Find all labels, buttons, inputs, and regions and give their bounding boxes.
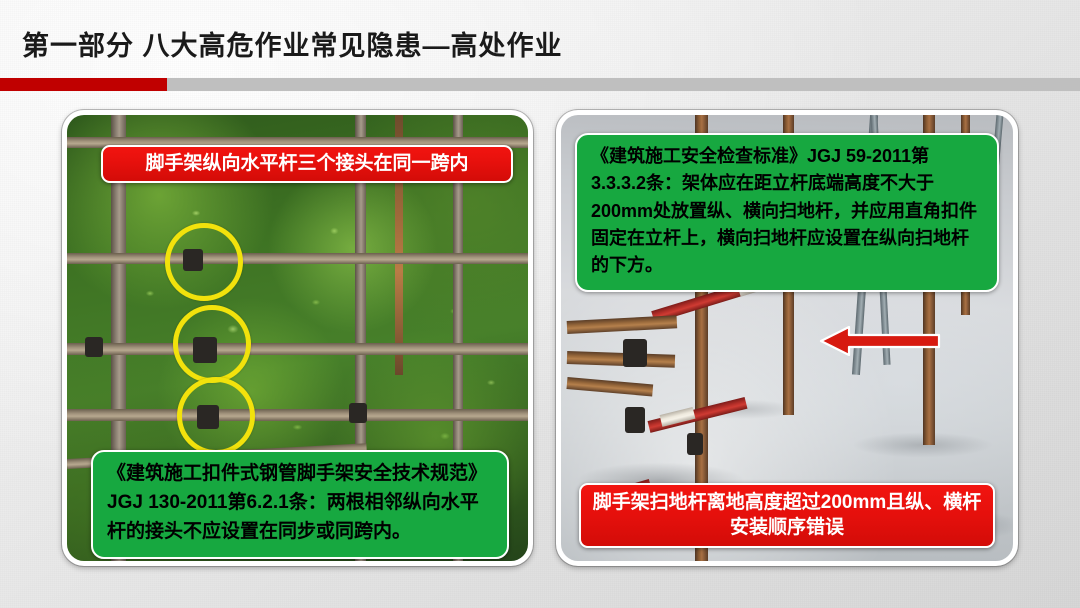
right-photo-card[interactable]: 《建筑施工安全检查标准》JGJ 59-2011第3.3.3.2条：架体应在距立杆… [556,110,1018,566]
scaffold-joint [349,403,367,423]
marker-circle-3 [177,377,255,455]
left-card-inner: 脚手架纵向水平杆三个接头在同一跨内 《建筑施工扣件式钢管脚手架安全技术规范》JG… [67,115,528,561]
left-standard-caption: 《建筑施工扣件式钢管脚手架安全技术规范》JGJ 130-2011第6.2.1条：… [91,450,509,559]
right-standard-caption: 《建筑施工安全检查标准》JGJ 59-2011第3.3.3.2条：架体应在距立杆… [575,133,999,292]
right-hazard-banner: 脚手架扫地杆离地高度超过200mm且纵、横杆安装顺序错误 [579,483,995,548]
scaffold-ledger-pole [67,253,528,264]
title-divider-red-segment [0,78,167,91]
scaffold-joint [85,337,103,357]
right-angle-coupler [623,339,647,367]
page-title: 第一部分 八大高危作业常见隐患—高处作业 [22,24,563,63]
right-angle-coupler [687,433,703,455]
right-card-inner: 《建筑施工安全检查标准》JGJ 59-2011第3.3.3.2条：架体应在距立杆… [561,115,1013,561]
title-divider-gray-segment [167,78,1080,91]
scaffold-ledger-pole [67,343,528,355]
left-photo-card[interactable]: 脚手架纵向水平杆三个接头在同一跨内 《建筑施工扣件式钢管脚手架安全技术规范》JG… [62,110,533,566]
red-pointer-arrow [819,326,941,356]
right-angle-coupler [625,407,645,433]
marker-circle-2 [173,305,251,383]
left-hazard-banner: 脚手架纵向水平杆三个接头在同一跨内 [101,145,513,183]
scaffold-ledger-pole [67,409,528,421]
title-divider [0,78,1080,91]
marker-circle-1 [165,223,243,301]
